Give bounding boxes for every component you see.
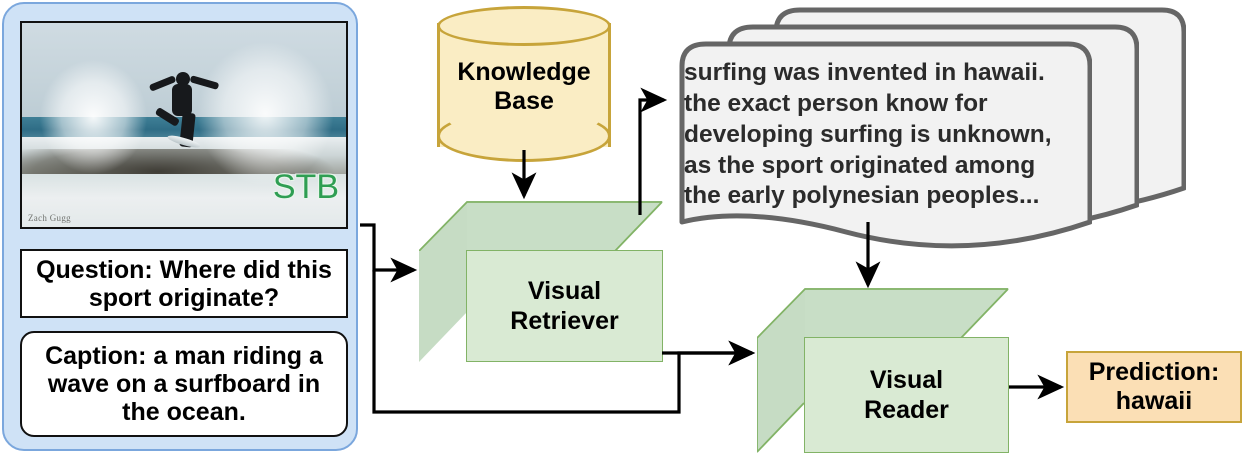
arrow-input-to-retriever bbox=[360, 225, 414, 270]
photo-watermark: Zach Gugg bbox=[28, 213, 71, 223]
retriever-label-line1: Visual bbox=[510, 276, 618, 306]
visual-reader-box: Visual Reader bbox=[757, 288, 1009, 453]
knowledge-base-label-line2: Base bbox=[437, 87, 611, 116]
passage-doc-front: surfing was invented in hawaii. the exac… bbox=[668, 36, 1092, 252]
stb-overlay-label: STB bbox=[273, 168, 339, 207]
retriever-cube-edges bbox=[419, 201, 663, 251]
photo-surfer-figure bbox=[142, 72, 226, 166]
reader-cube-front: Visual Reader bbox=[804, 337, 1009, 453]
surfer-photo: Zach Gugg STB bbox=[20, 21, 348, 229]
knowledge-base-label-line1: Knowledge bbox=[437, 58, 611, 87]
input-panel: Zach Gugg STB Question: Where did this s… bbox=[2, 2, 358, 451]
retrieved-passages-stack: surfing was invented in hawaii. the exac… bbox=[668, 2, 1186, 254]
reader-label-line1: Visual bbox=[864, 365, 949, 395]
prediction-label-line2: hawaii bbox=[1089, 387, 1220, 416]
prediction-label-line1: Prediction: bbox=[1089, 358, 1220, 387]
arrow-retriever-to-passages bbox=[640, 100, 664, 215]
cylinder-bottom bbox=[437, 110, 611, 162]
retriever-cube-front: Visual Retriever bbox=[466, 250, 663, 362]
passage-text: surfing was invented in hawaii. the exac… bbox=[684, 58, 1074, 212]
retriever-label-line2: Retriever bbox=[510, 306, 618, 336]
knowledge-base-cylinder: Knowledge Base bbox=[437, 6, 611, 164]
visual-retriever-box: Visual Retriever bbox=[419, 201, 663, 362]
cylinder-top bbox=[437, 6, 611, 46]
knowledge-base-label: Knowledge Base bbox=[437, 58, 611, 116]
diagram-canvas: Zach Gugg STB Question: Where did this s… bbox=[0, 0, 1252, 453]
question-box: Question: Where did this sport originate… bbox=[20, 249, 348, 318]
reader-label-line2: Reader bbox=[864, 395, 949, 425]
caption-box: Caption: a man riding a wave on a surfbo… bbox=[20, 331, 348, 437]
prediction-box: Prediction: hawaii bbox=[1066, 351, 1242, 423]
